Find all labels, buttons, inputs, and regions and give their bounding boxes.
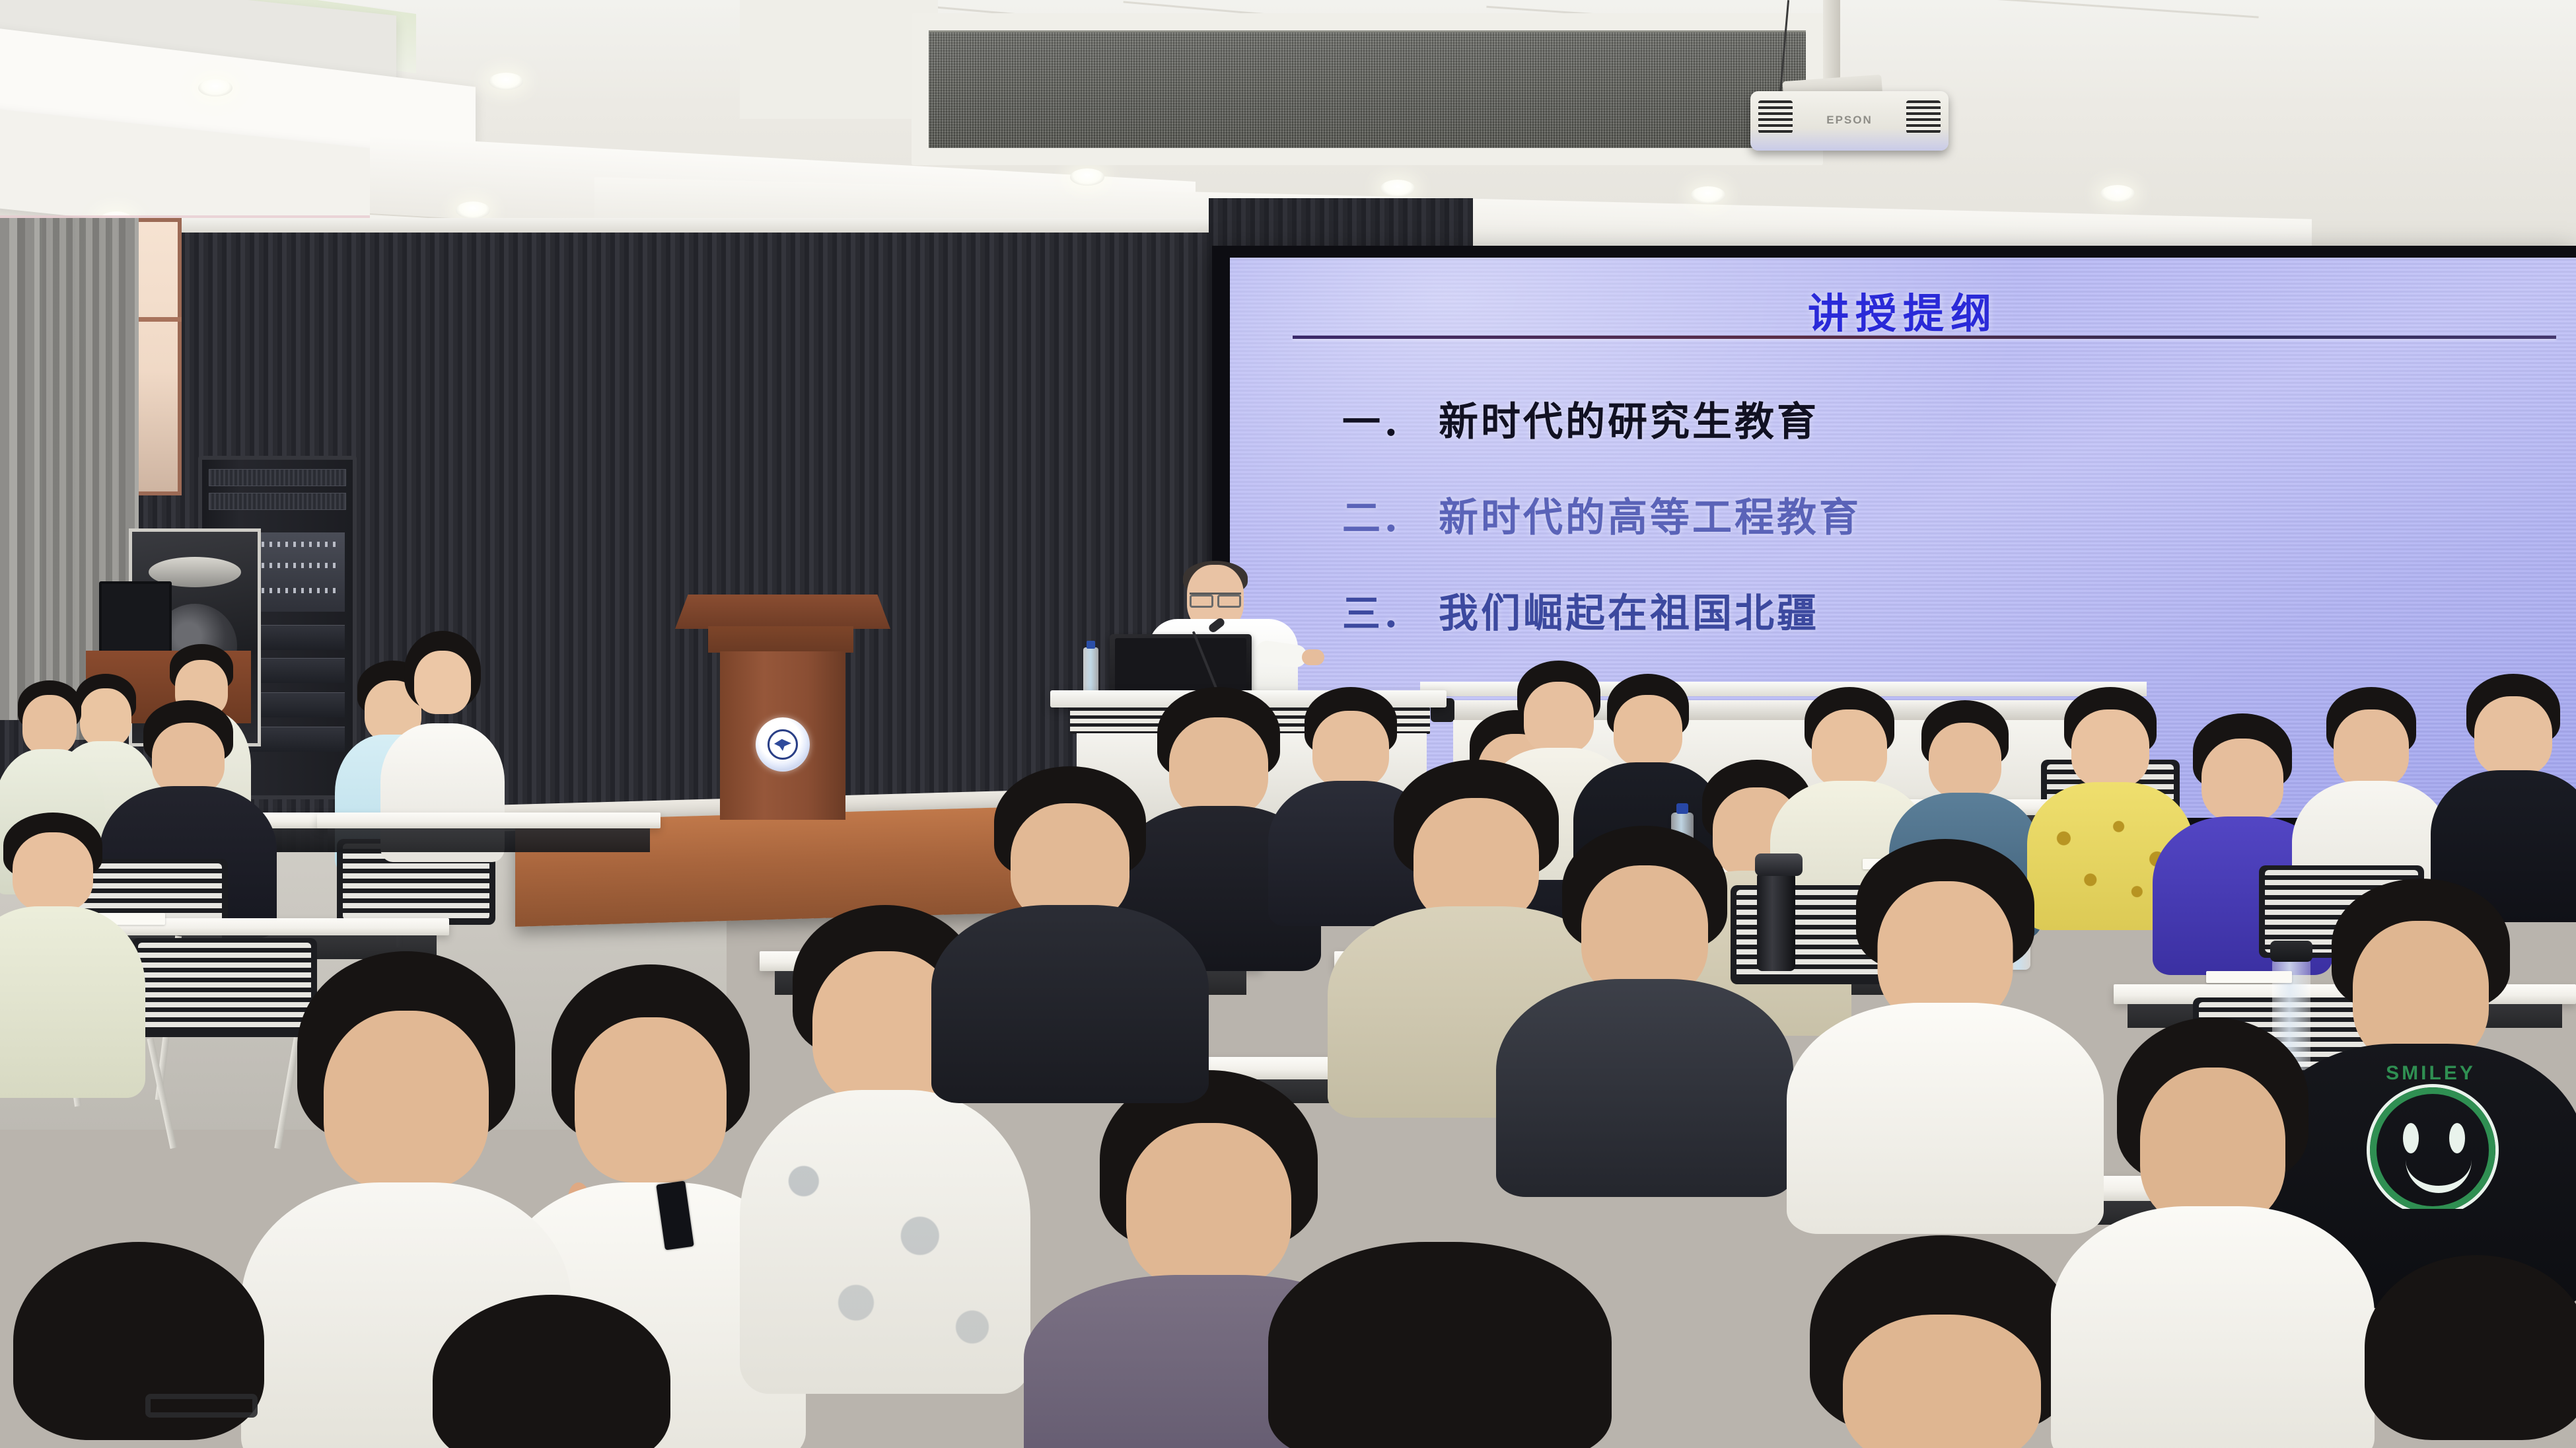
- slide-body: 一． 新时代的研究生教育 二． 新时代的高等工程教育 三． 我们崛起在祖国北疆: [1342, 390, 2550, 677]
- slide-item-text: 新时代的研究生教育: [1439, 390, 1819, 447]
- desk-underside: [328, 828, 651, 852]
- audience-person: [1506, 826, 1783, 1143]
- smiley-eye: [2403, 1123, 2419, 1153]
- monitor-screen: [99, 581, 172, 654]
- person-torso: [0, 906, 145, 1098]
- audience-person: [2437, 674, 2576, 892]
- downlight-icon: [2100, 185, 2135, 202]
- slide-item-text: 我们崛起在祖国北疆: [1439, 581, 1819, 639]
- person-hair: [1268, 1242, 1612, 1448]
- projector: EPSON: [1750, 91, 1949, 151]
- downlight-icon: [489, 73, 523, 90]
- rack-unit: [209, 493, 346, 510]
- slide-item: 一． 新时代的研究生教育: [1342, 390, 2550, 447]
- slide-item: 二． 新时代的高等工程教育: [1342, 486, 2550, 543]
- water-bottle: [1083, 647, 1098, 697]
- upper-window-band: [912, 13, 1823, 165]
- person-head: [1011, 803, 1129, 922]
- audience-person: [1255, 1242, 1625, 1448]
- downlight-icon: [198, 79, 233, 96]
- smiley-icon: [2370, 1087, 2495, 1209]
- person-head: [1843, 1315, 2041, 1448]
- person-torso: [740, 1090, 1030, 1394]
- person-head: [2140, 1068, 2285, 1226]
- audience-person: [938, 766, 1202, 1057]
- person-head: [1878, 881, 2013, 1023]
- person-head: [1581, 865, 1708, 997]
- person-head: [2201, 739, 2283, 822]
- audience-person: [2345, 1255, 2576, 1448]
- person-head: [2334, 709, 2409, 787]
- audience-person: [1797, 839, 2094, 1182]
- slide-item-number: 一．: [1342, 391, 1421, 447]
- university-seal-icon: [756, 717, 810, 772]
- person-head: [1614, 695, 1682, 766]
- presenter-hand: [1302, 649, 1324, 665]
- person-hair: [433, 1295, 670, 1448]
- smiley-mouth: [2406, 1155, 2472, 1193]
- downlight-icon: [1380, 180, 1415, 197]
- person-head: [414, 651, 471, 714]
- person-torso: [2051, 1206, 2375, 1448]
- rack-unit: [209, 469, 346, 486]
- slide-divider: [1293, 336, 2556, 339]
- person-head: [22, 695, 77, 754]
- person-head: [2071, 709, 2149, 787]
- projector-brand-label: EPSON: [1750, 114, 1949, 127]
- desk: [317, 813, 661, 828]
- slide-item-number: 二．: [1342, 487, 1421, 542]
- person-hair: [2365, 1255, 2576, 1440]
- glasses-icon: [145, 1394, 258, 1418]
- slide-item-text: 新时代的高等工程教育: [1439, 486, 1861, 543]
- slide-item-number: 三．: [1342, 583, 1421, 638]
- person-head: [324, 1011, 489, 1189]
- podium: [687, 595, 878, 819]
- slide-title: 讲授提纲: [1230, 280, 2576, 340]
- podium-neck: [708, 626, 853, 653]
- person-torso: [931, 905, 1209, 1103]
- downlight-icon: [1070, 168, 1104, 186]
- podium-body: [720, 651, 845, 820]
- glasses-icon: [1190, 593, 1241, 602]
- person-head: [575, 1017, 727, 1182]
- audience-person: [410, 1295, 694, 1448]
- smiley-eye: [2449, 1123, 2465, 1153]
- person-head: [2353, 921, 2489, 1064]
- person-torso: [1496, 979, 1793, 1197]
- person-head: [1929, 723, 2001, 798]
- downlight-icon: [456, 201, 490, 219]
- audience-person: [2061, 1017, 2365, 1448]
- audience-person: [0, 813, 139, 1090]
- downlight-icon: [1691, 186, 1725, 203]
- person-head: [13, 832, 93, 912]
- person-head: [1812, 709, 1887, 787]
- lecture-hall-photo: EPSON 讲授提纲 一． 新时代的研究生教育 二． 新时代的高等工程教育 三．…: [0, 0, 2576, 1448]
- seal-inner: [768, 729, 798, 760]
- upper-wall-panel: [740, 0, 938, 119]
- podium-top: [675, 595, 890, 629]
- ceiling-seam: [1982, 0, 2258, 18]
- person-torso: [1787, 1003, 2104, 1234]
- person-head: [152, 723, 225, 794]
- person-head: [2474, 696, 2552, 776]
- acoustic-mesh: [929, 30, 1806, 148]
- slide-item: 三． 我们崛起在祖国北疆: [1342, 581, 2550, 639]
